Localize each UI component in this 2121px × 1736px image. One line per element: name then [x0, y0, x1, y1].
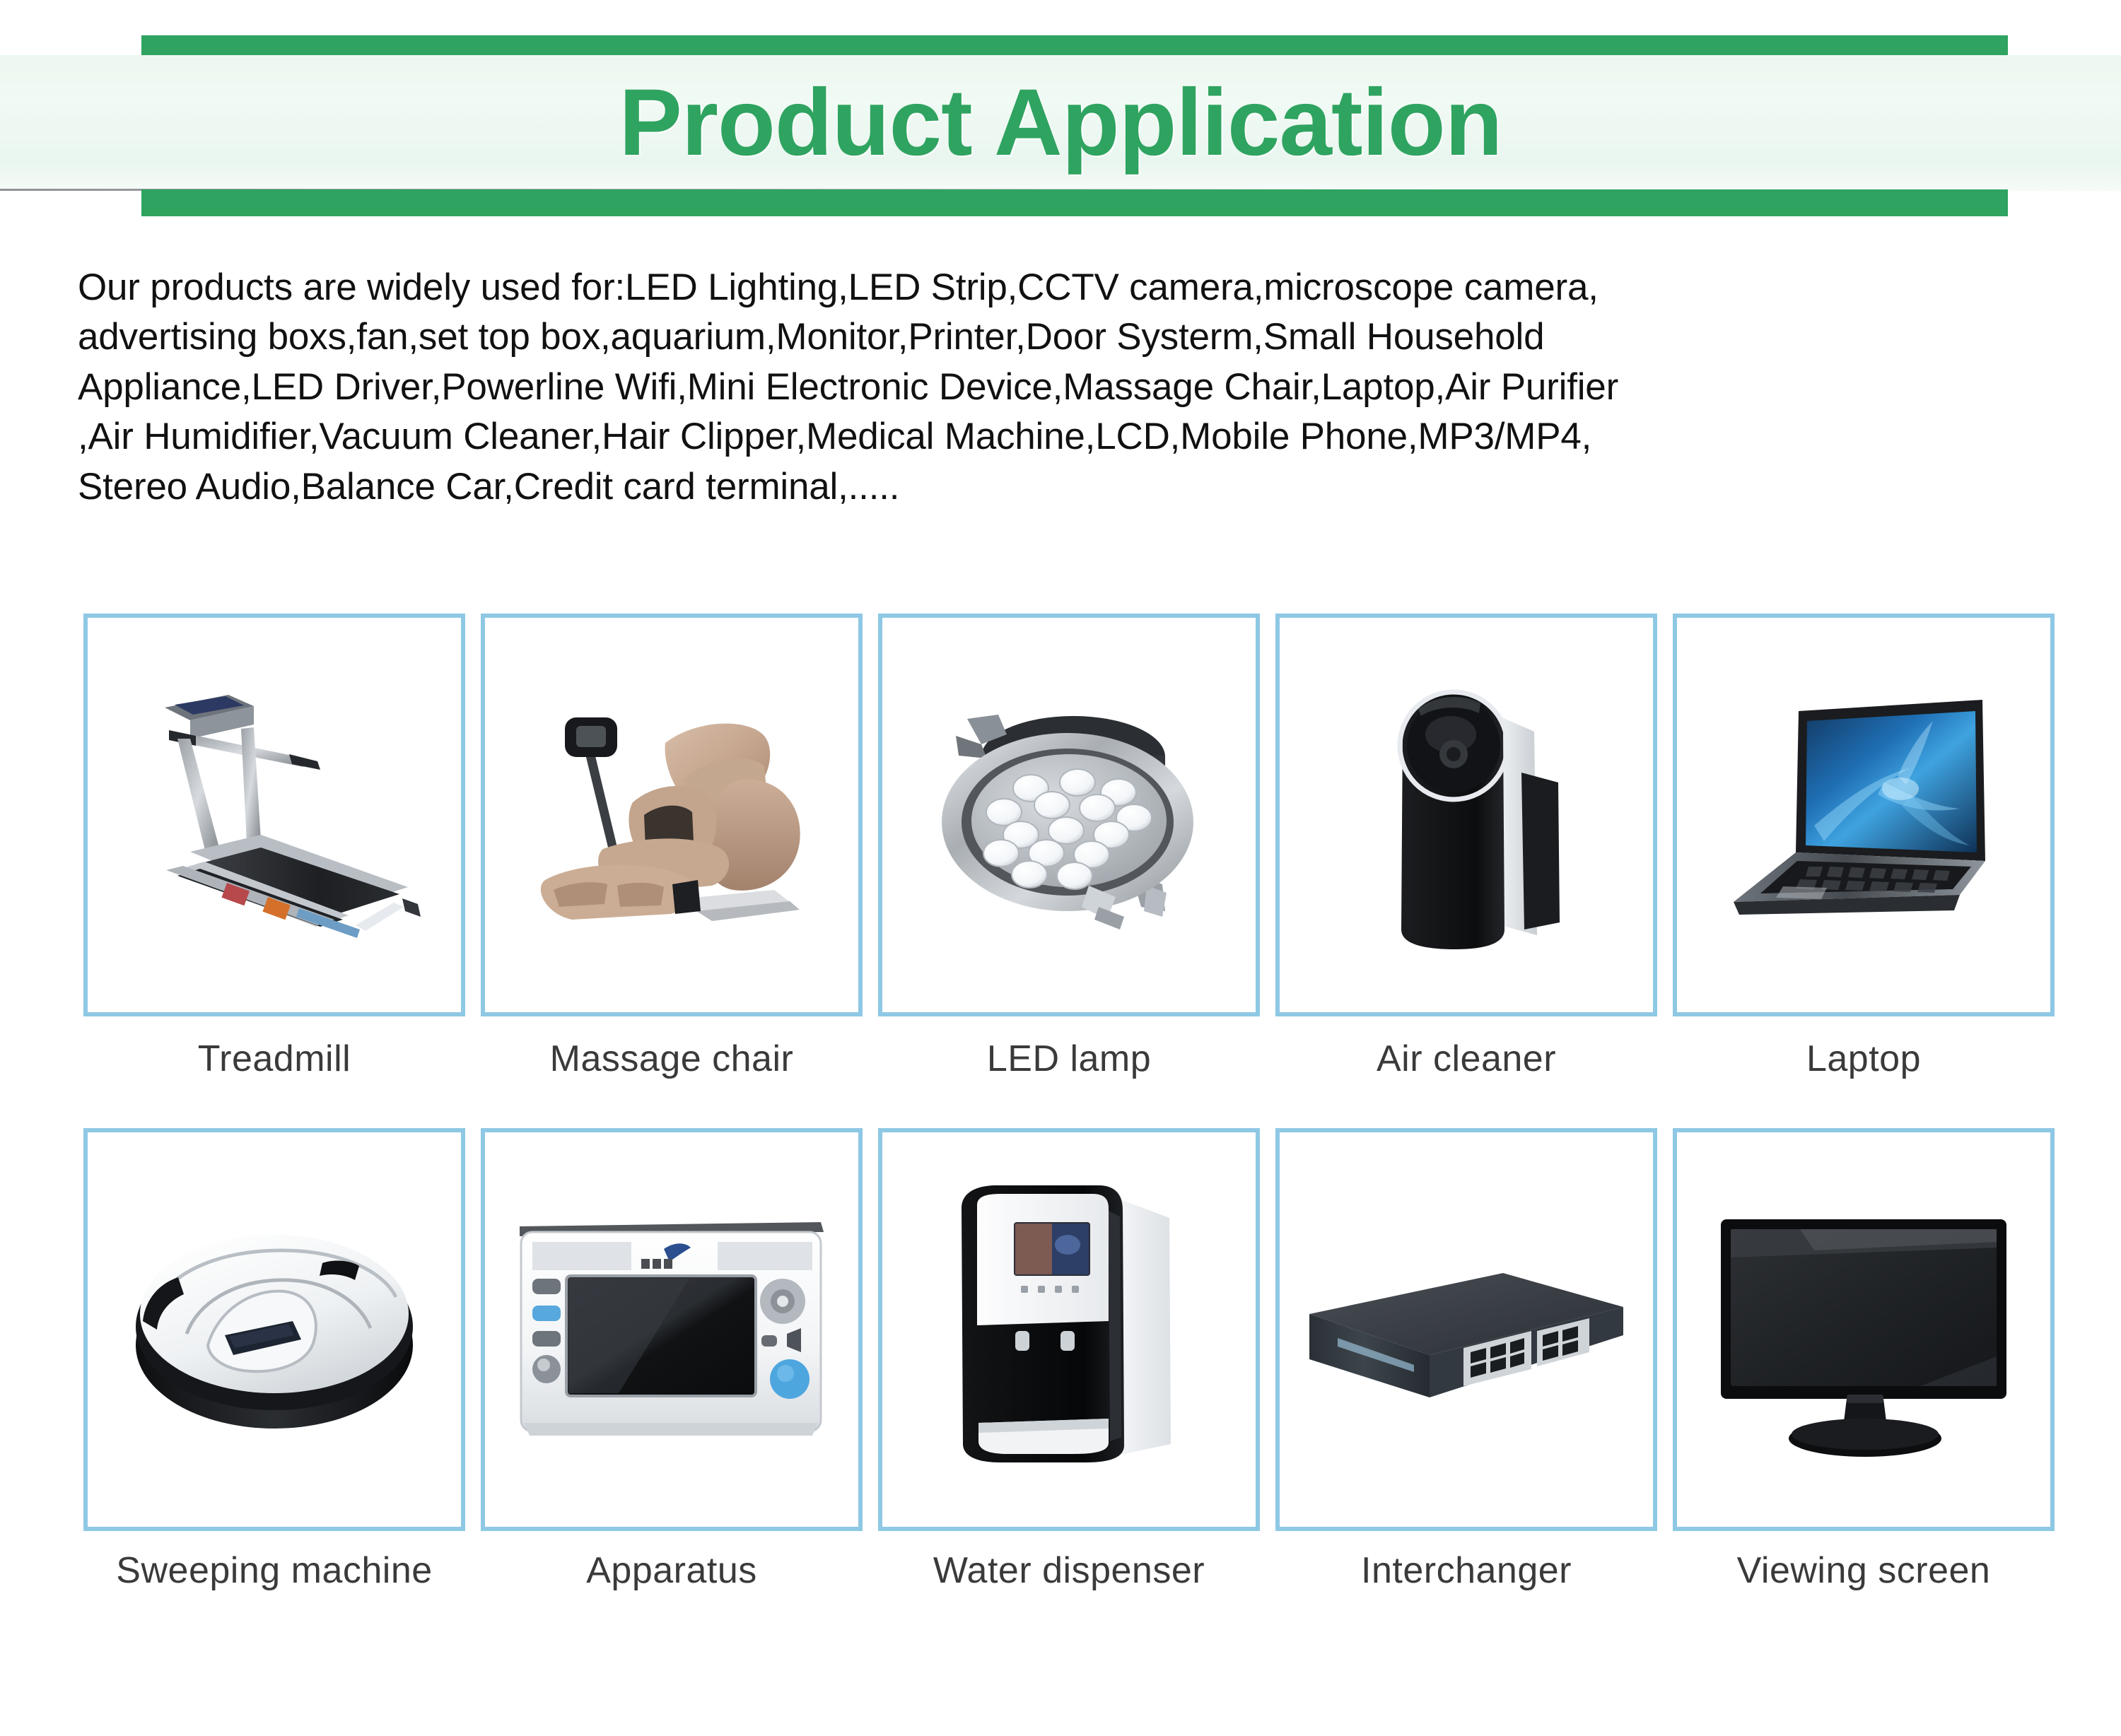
product-cell-sweeping-machine[interactable]: Sweeping machine — [83, 1128, 465, 1592]
product-label: LED lamp — [987, 1038, 1151, 1080]
product-grid: Treadmill — [0, 614, 2121, 1592]
product-cell-water-dispenser[interactable]: Water dispenser — [878, 1128, 1260, 1592]
header-bar-bottom — [141, 189, 2008, 216]
product-cell-treadmill[interactable]: Treadmill — [83, 614, 465, 1080]
product-card[interactable] — [83, 614, 465, 1016]
page-header: Product Application — [0, 0, 2121, 233]
page-title: Product Application — [619, 76, 1502, 170]
treadmill-icon — [122, 674, 426, 956]
massage-chair-icon — [520, 674, 824, 956]
product-cell-massage-chair[interactable]: Massage chair — [481, 614, 863, 1080]
product-card[interactable] — [878, 614, 1260, 1016]
product-cell-interchanger[interactable]: Interchanger — [1275, 1128, 1657, 1592]
product-card[interactable] — [1275, 614, 1657, 1016]
product-label: Water dispenser — [933, 1549, 1205, 1592]
product-label: Massage chair — [550, 1038, 794, 1080]
led-lamp-icon — [913, 674, 1225, 956]
air-cleaner-icon — [1332, 667, 1601, 963]
medical-monitor-icon — [513, 1202, 831, 1457]
product-label: Viewing screen — [1737, 1549, 1991, 1592]
intro-line: Our products are widely used for:LED Lig… — [78, 263, 2079, 312]
network-switch-icon — [1304, 1231, 1629, 1429]
product-card[interactable] — [1275, 1128, 1657, 1531]
product-cell-viewing-screen[interactable]: Viewing screen — [1673, 1128, 2055, 1592]
intro-line: ,Air Humidifier,Vacuum Cleaner,Hair Clip… — [78, 412, 2079, 462]
water-dispenser-icon — [935, 1174, 1203, 1485]
product-label: Air cleaner — [1377, 1038, 1556, 1080]
product-label: Apparatus — [586, 1549, 757, 1592]
product-label: Laptop — [1806, 1038, 1921, 1080]
product-label: Interchanger — [1361, 1549, 1572, 1592]
product-cell-air-cleaner[interactable]: Air cleaner — [1275, 614, 1657, 1080]
intro-paragraph: Our products are widely used for:LED Lig… — [78, 263, 2079, 512]
product-card[interactable] — [1673, 614, 2055, 1016]
product-card[interactable] — [481, 1128, 863, 1531]
product-card[interactable] — [83, 1128, 465, 1531]
product-row: Treadmill — [0, 614, 2121, 1080]
product-label: Treadmill — [198, 1038, 351, 1080]
intro-line: Appliance,LED Driver,Powerline Wifi,Mini… — [78, 363, 2079, 412]
robot-vacuum-icon — [119, 1195, 430, 1464]
product-card[interactable] — [1673, 1128, 2055, 1531]
intro-line: Stereo Audio,Balance Car,Credit card ter… — [78, 462, 2079, 512]
laptop-icon — [1708, 684, 2019, 946]
product-label: Sweeping machine — [116, 1549, 432, 1592]
product-cell-apparatus[interactable]: Apparatus — [481, 1128, 863, 1592]
header-band: Product Application — [0, 55, 2121, 191]
product-row: Sweeping machine — [0, 1128, 2121, 1592]
product-card[interactable] — [878, 1128, 1260, 1531]
product-card[interactable] — [481, 614, 863, 1016]
intro-line: advertising boxs,fan,set top box,aquariu… — [78, 312, 2079, 362]
lcd-monitor-icon — [1708, 1195, 2019, 1464]
product-cell-laptop[interactable]: Laptop — [1673, 614, 2055, 1080]
product-cell-led-lamp[interactable]: LED lamp — [878, 614, 1260, 1080]
